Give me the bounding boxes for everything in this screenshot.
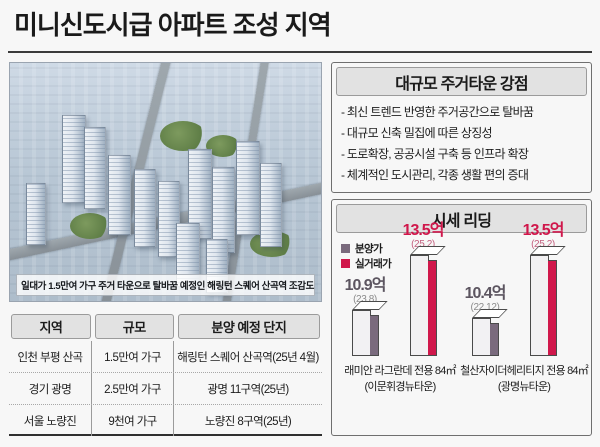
bar-deal-0 — [410, 255, 437, 356]
table-header-complex: 분양 예정 단지 — [178, 314, 320, 339]
infographic-page: 미니신도시급 아파트 조성 지역 일대가 1.5만여 가구 주거 타운으로 탈바 — [0, 0, 600, 447]
page-title-bar: 미니신도시급 아파트 조성 지역 — [0, 0, 600, 54]
cell-scale: 9천여 가구 — [92, 405, 174, 436]
bar-side-face — [548, 260, 557, 356]
category-sublabel-0: (이문휘경뉴타운) — [334, 379, 466, 395]
table-row: 인천 부평 산곡 1.5만여 가구 해링턴 스퀘어 산곡역(25년 4월) — [9, 341, 322, 372]
cell-scale: 1.5만여 가구 — [92, 341, 174, 372]
cell-region: 인천 부평 산곡 — [9, 341, 92, 372]
cell-complex: 노량진 8구역(25년) — [174, 405, 322, 436]
bar-front-face — [472, 318, 491, 356]
bar-front-face — [352, 310, 371, 356]
bar-side-face — [428, 260, 437, 356]
bar-sale-0 — [352, 310, 379, 356]
bar-value-deal-0: 13.5억 — [378, 222, 468, 239]
merits-list: - 최신 트렌드 반영한 주거공간으로 탈바꿈 - 대규모 신축 밀집에 따른 … — [332, 96, 591, 186]
cell-complex: 해링턴 스퀘어 산곡역(25년 4월) — [174, 341, 322, 372]
list-item: - 도로확장, 공공시설 구축 등 인프라 확장 — [341, 144, 591, 165]
list-item: - 최신 트렌드 반영한 주거공간으로 탈바꿈 — [341, 102, 591, 123]
table-header-scale: 규모 — [95, 314, 174, 339]
merits-panel: 대규모 주거타운 강점 - 최신 트렌드 반영한 주거공간으로 탈바꿈 - 대규… — [331, 62, 592, 193]
bar-sale-1 — [472, 318, 499, 356]
bar-group-1: 10.4억 (22.12) 13.5억 (25.2) — [466, 236, 584, 356]
merits-title: 대규모 주거타운 강점 — [336, 67, 587, 96]
bar-value-deal-1: 13.5억 — [498, 222, 588, 239]
page-title: 미니신도시급 아파트 조성 지역 — [14, 9, 600, 41]
bar-deal-1 — [530, 255, 557, 356]
cell-region: 서울 노량진 — [9, 405, 92, 436]
category-name-1: 철산자이더헤리티지 전용 84㎡ — [458, 363, 590, 379]
bar-value-sale-1: 10.4억 — [440, 285, 530, 302]
bar-side-face — [370, 315, 379, 356]
bar-chart: 10.9억 (23.8) 13.5억 (25.2) — [332, 236, 591, 401]
price-chart-panel: 시세 리딩 분양가 실거래가 10.9억 (23.8) — [331, 199, 592, 436]
aerial-photo-panel: 일대가 1.5만여 가구 주거 타운으로 탈바꿈 예정인 해링턴 스퀘어 산곡역… — [9, 62, 322, 302]
list-item: - 체계적인 도시관리, 각종 생활 편의 증대 — [341, 165, 591, 186]
region-table: 지역 규모 분양 예정 단지 인천 부평 산곡 1.5만여 가구 해링턴 스퀘어… — [9, 311, 322, 436]
cell-scale: 2.5만여 가구 — [92, 373, 174, 404]
category-sublabel-1: (광명뉴타운) — [458, 379, 590, 395]
title-divider — [8, 51, 592, 53]
bar-front-face — [530, 255, 549, 356]
table-row: 경기 광명 2.5만여 가구 광명 11구역(25년) — [9, 372, 322, 404]
cell-complex: 광명 11구역(25년) — [174, 373, 322, 404]
aerial-rendering-image — [10, 63, 321, 301]
category-label-1: 철산자이더헤리티지 전용 84㎡ (광명뉴타운) — [458, 363, 590, 395]
bar-front-face — [410, 255, 429, 356]
table-header-region: 지역 — [11, 314, 91, 339]
photo-caption: 일대가 1.5만여 가구 주거 타운으로 탈바꿈 예정인 해링턴 스퀘어 산곡역… — [16, 274, 315, 296]
bar-value-sale-0: 10.9억 — [320, 277, 410, 294]
table-header-row: 지역 규모 분양 예정 단지 — [9, 311, 322, 341]
category-name-0: 래미안 라그란데 전용 84㎡ — [334, 363, 466, 379]
list-item: - 대규모 신축 밀집에 따른 상징성 — [341, 123, 591, 144]
bar-side-face — [490, 323, 499, 356]
category-label-0: 래미안 라그란데 전용 84㎡ (이문휘경뉴타운) — [334, 363, 466, 395]
cell-region: 경기 광명 — [9, 373, 92, 404]
table-row: 서울 노량진 9천여 가구 노량진 8구역(25년) — [9, 404, 322, 436]
